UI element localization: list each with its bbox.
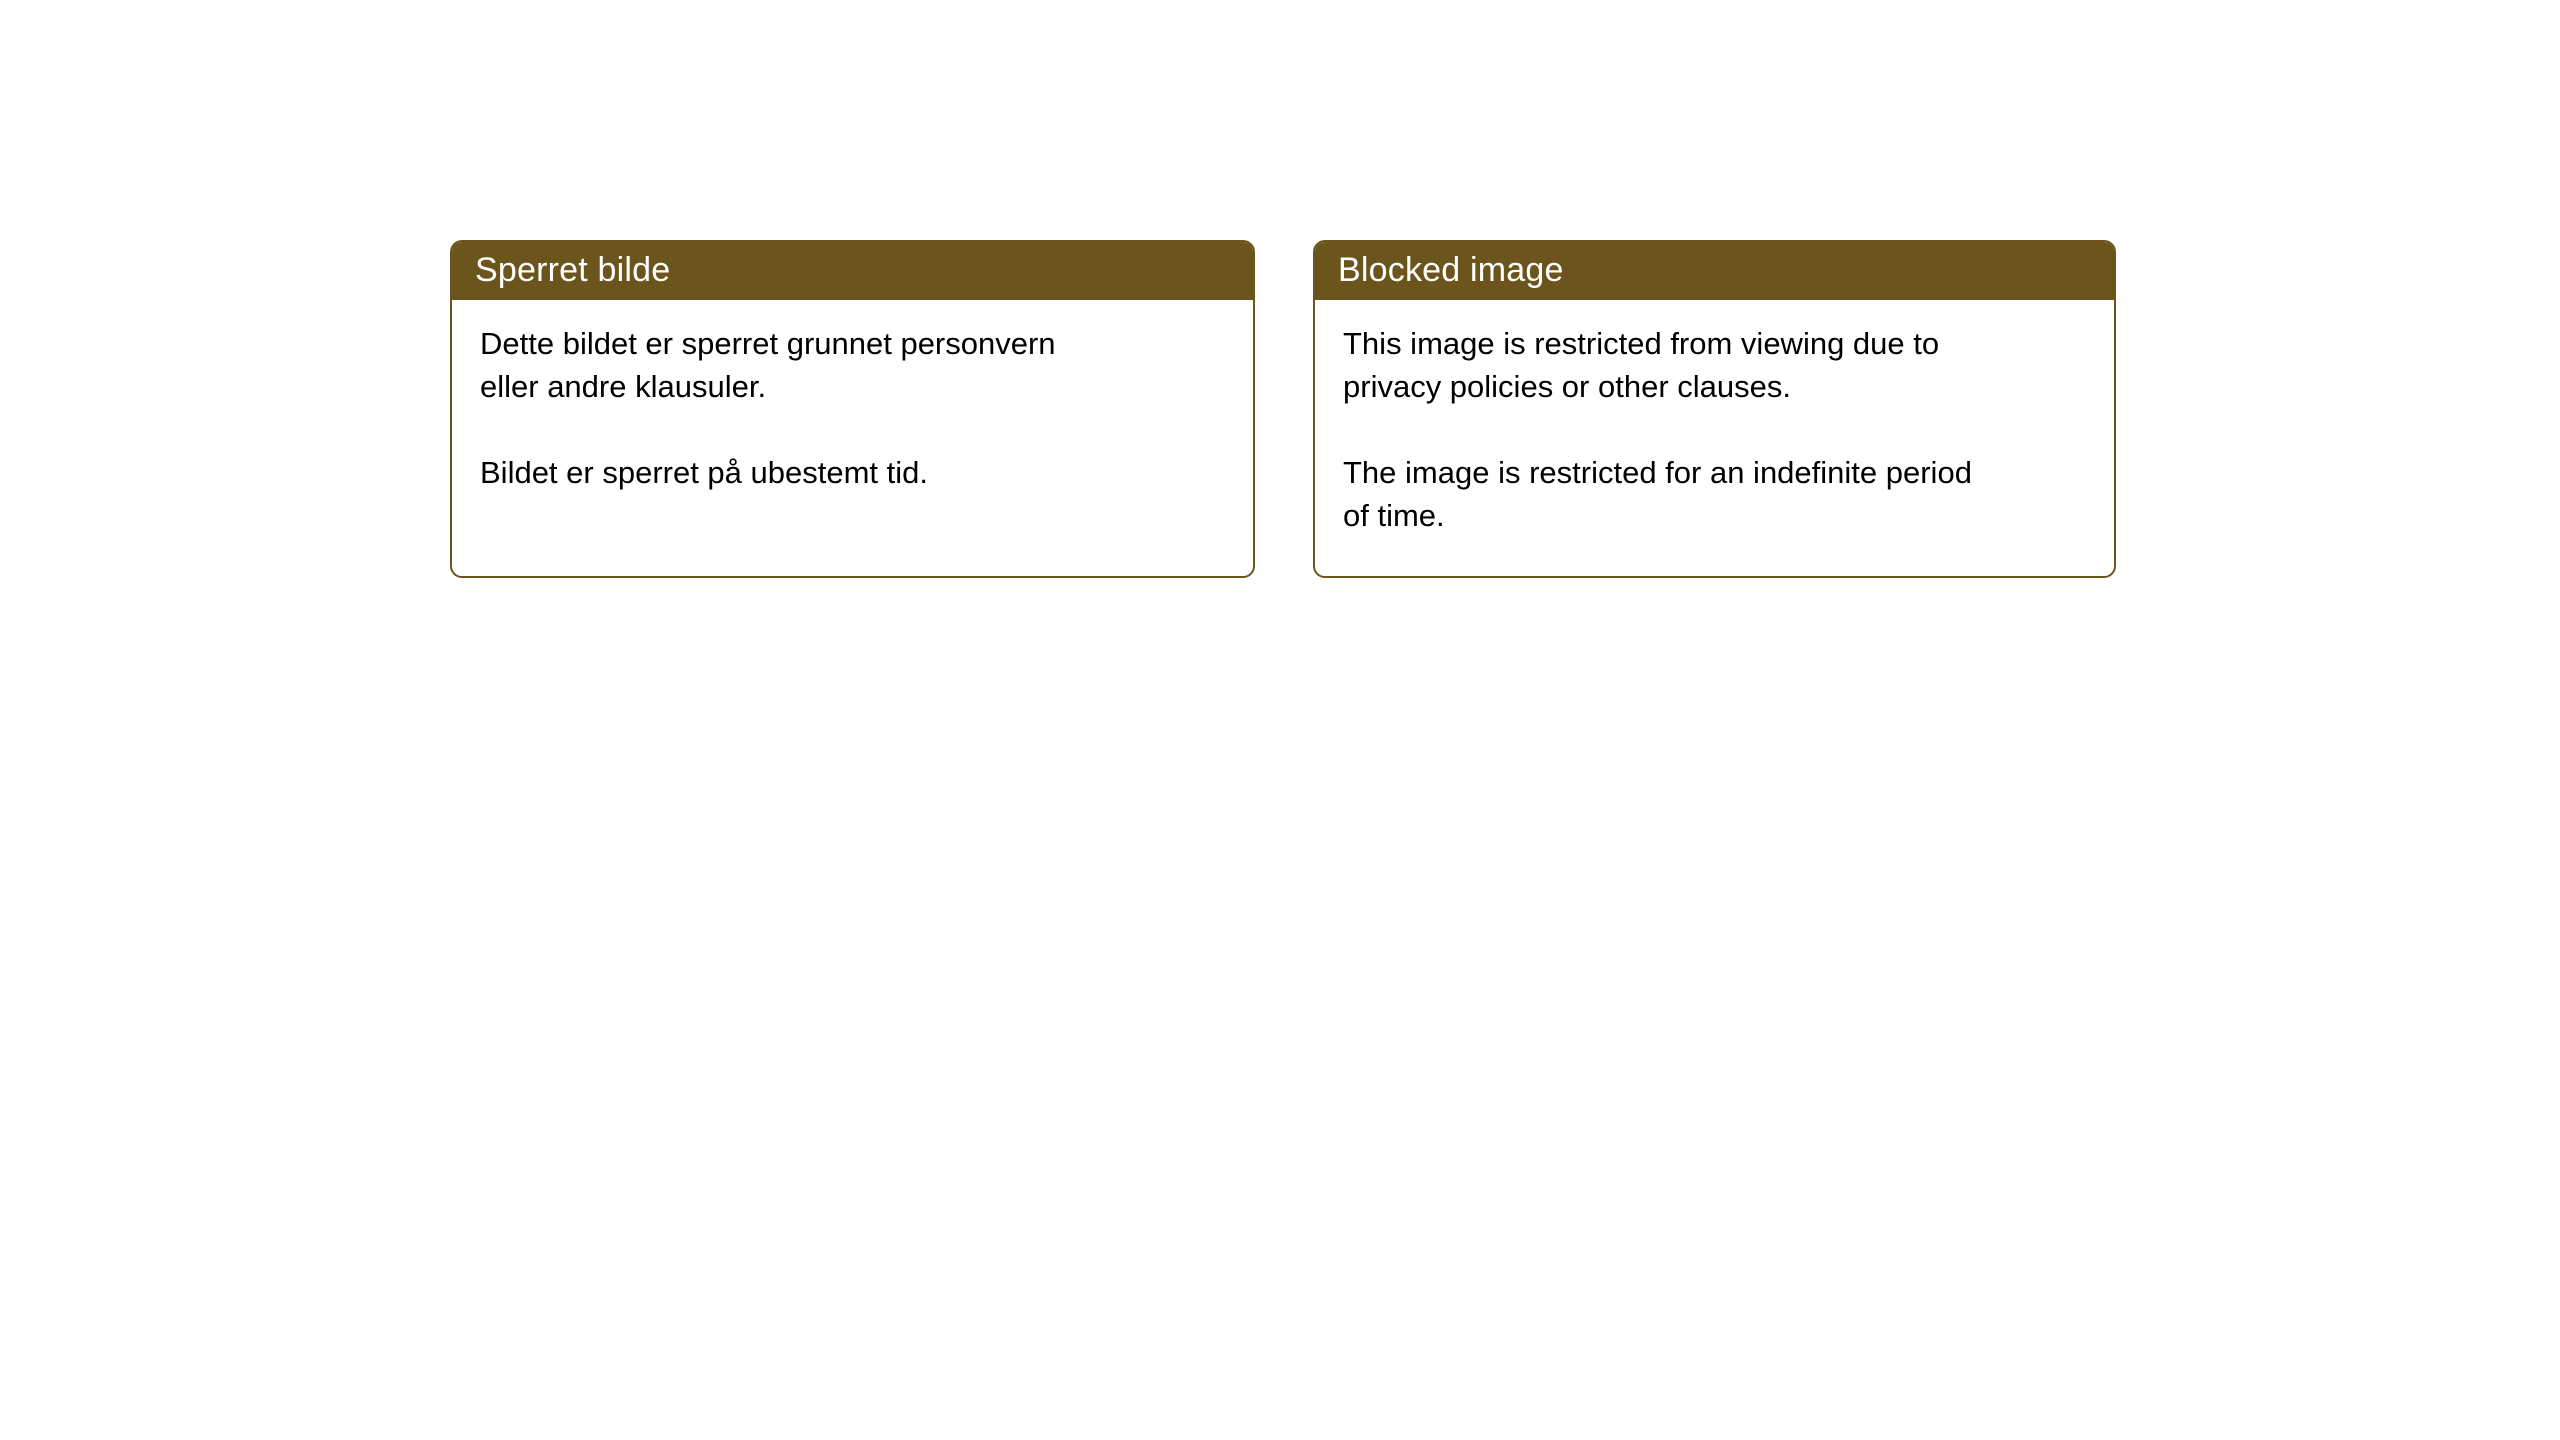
card-title-english: Blocked image bbox=[1338, 253, 1564, 287]
blocked-image-notice-card-english: Blocked image This image is restricted f… bbox=[1313, 240, 2116, 578]
page-root: Sperret bilde Dette bildet er sperret gr… bbox=[0, 0, 2560, 1440]
card-title-norwegian: Sperret bilde bbox=[475, 253, 670, 287]
card-paragraph-duration-english: The image is restricted for an indefinit… bbox=[1343, 451, 2086, 537]
card-paragraph-reason-norwegian: Dette bildet er sperret grunnet personve… bbox=[480, 322, 1225, 408]
card-header-norwegian: Sperret bilde bbox=[450, 240, 1255, 300]
card-body-english: This image is restricted from viewing du… bbox=[1315, 300, 2114, 537]
card-body-norwegian: Dette bildet er sperret grunnet personve… bbox=[452, 300, 1253, 494]
blocked-image-notice-card-norwegian: Sperret bilde Dette bildet er sperret gr… bbox=[450, 240, 1255, 578]
card-paragraph-duration-norwegian: Bildet er sperret på ubestemt tid. bbox=[480, 451, 1225, 494]
card-header-english: Blocked image bbox=[1313, 240, 2116, 300]
card-paragraph-reason-english: This image is restricted from viewing du… bbox=[1343, 322, 2086, 408]
